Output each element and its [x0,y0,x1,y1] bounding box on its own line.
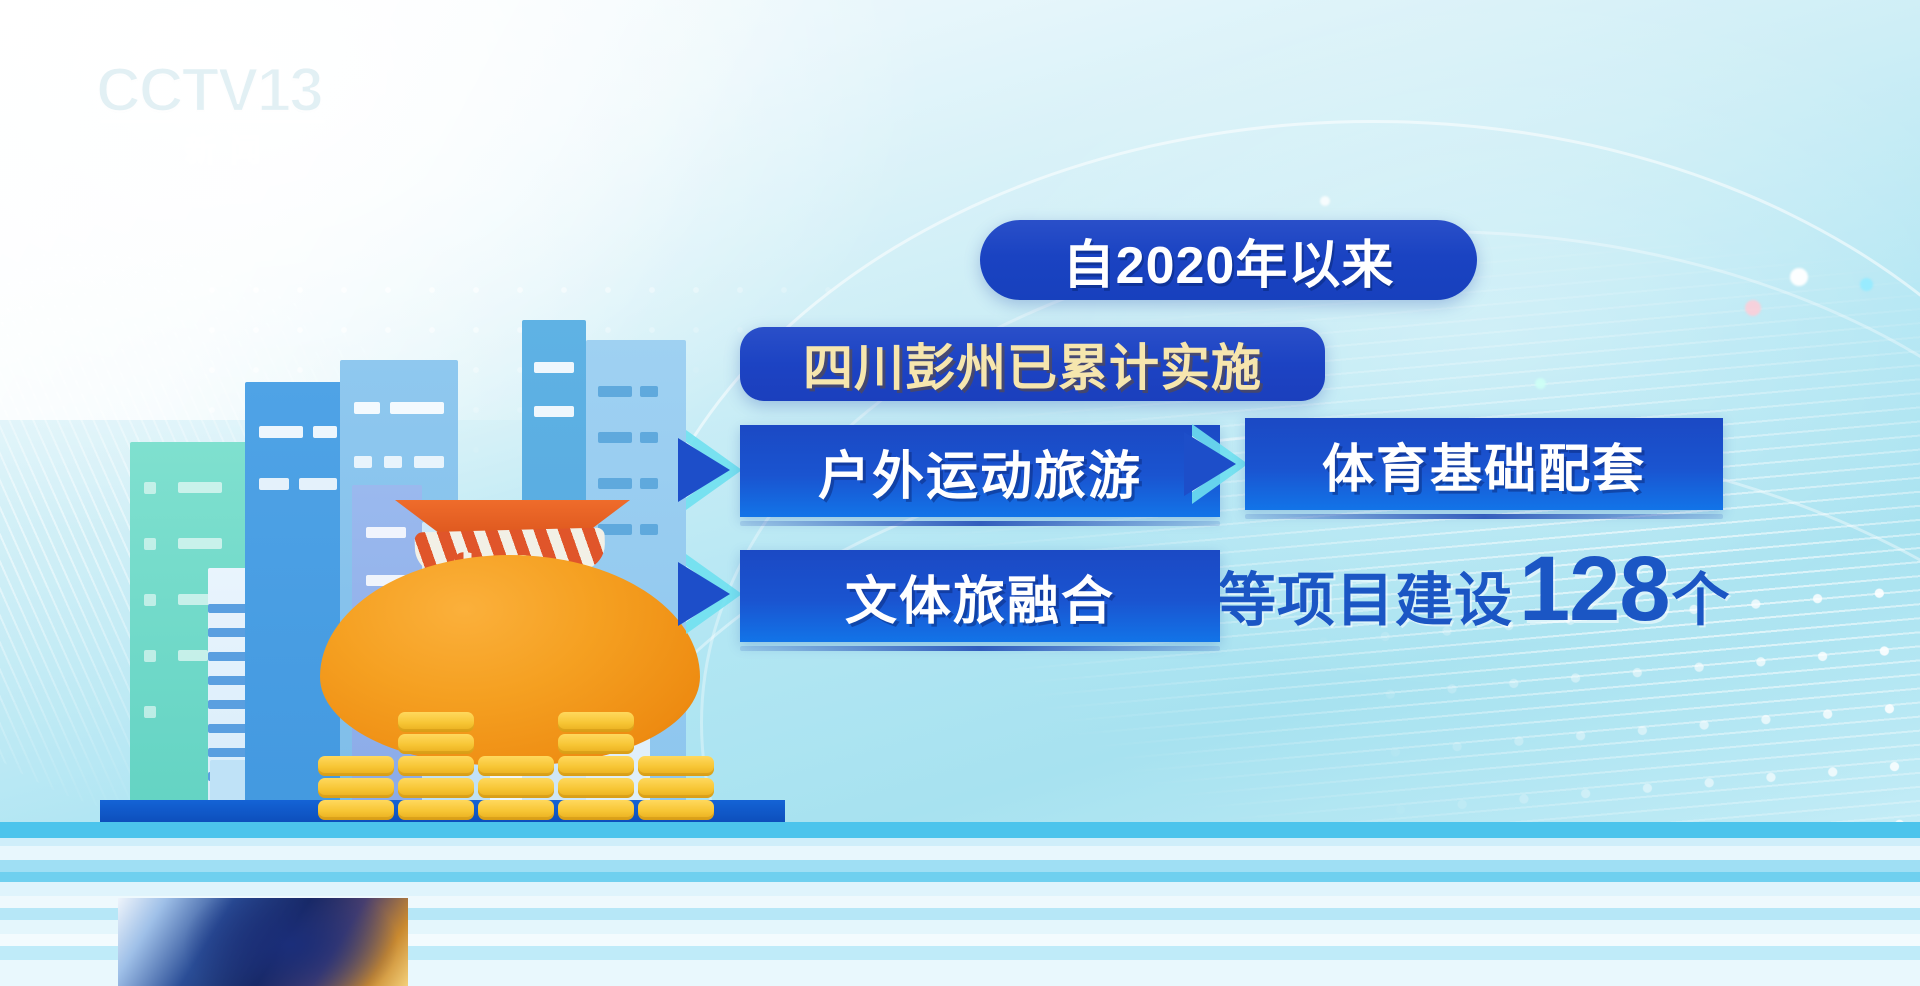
item-label: 体育基础配套 [1322,427,1646,502]
summary-unit-label: 个 [1672,553,1730,637]
broadcast-screen: CCTV13 新闻 [0,0,1920,986]
background-spark [1320,196,1330,206]
channel-logo-subtitle: 新闻 [96,125,364,170]
subject-banner-label: 四川彭州已累计实施 [803,328,1262,400]
project-count-summary: 等项目建设 128 个 [1218,548,1858,644]
summary-count-value: 128 [1519,548,1670,631]
coin-stack-icon [638,778,714,798]
item-label: 文体旅融合 [845,559,1115,634]
item-label: 户外运动旅游 [818,434,1142,509]
stripe [0,860,1920,872]
coin-stack-icon [558,712,634,732]
coin-stack-icon [398,800,474,820]
play-arrow-icon [1178,424,1250,504]
stripe [0,846,1920,860]
coin-stack-icon [558,778,634,798]
play-arrow-icon [672,554,744,634]
program-bug-sheen [118,898,408,986]
coin-stack-icon [638,756,714,776]
background-spark [1745,300,1761,316]
subject-banner: 四川彭州已累计实施 [740,327,1325,401]
background-spark [1790,268,1808,286]
coin-stack-icon [318,800,394,820]
coin-stack-icon [398,712,474,732]
item-box-sports-facilities: 体育基础配套 [1245,418,1723,510]
coin-stack-icon [398,756,474,776]
channel-logo: CCTV13 新闻 [96,58,364,170]
background-spark [1860,278,1873,291]
coin-stack-icon [558,800,634,820]
stripe [0,822,1920,838]
summary-lead-label: 等项目建设 [1218,553,1513,637]
coin-stack-icon [318,756,394,776]
play-arrow-icon [672,430,744,510]
stripe [0,838,1920,846]
background-spark [1535,378,1546,389]
coin-stack-icon [318,778,394,798]
channel-logo-text: CCTV13 [96,58,364,124]
item-box-culture-sport-tourism: 文体旅融合 [740,550,1220,642]
building [245,382,350,820]
item-box-outdoor-tourism: 户外运动旅游 [740,425,1220,517]
stripe [0,882,1920,896]
coin-stack-icon [478,778,554,798]
coin-stack-icon [638,800,714,820]
coin-stack-icon [398,734,474,754]
program-bug-graphic [118,898,408,986]
date-banner-label: 自2020年以来 [1063,223,1395,298]
coin-stack-icon [398,778,474,798]
stripe [0,872,1920,882]
coin-stack-icon [478,756,554,776]
coin-stack-icon [558,734,634,754]
coin-stack-icon [558,756,634,776]
date-banner: 自2020年以来 [980,220,1477,300]
coin-stack-icon [478,800,554,820]
